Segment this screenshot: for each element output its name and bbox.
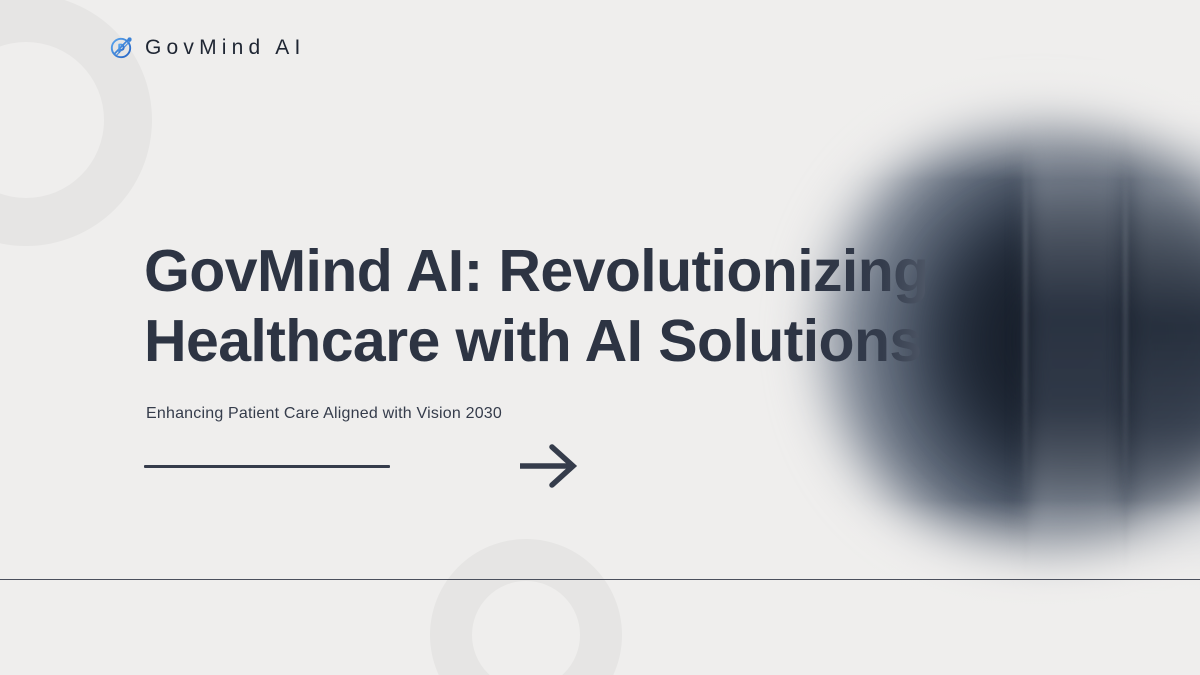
decorative-ring-bottom-center xyxy=(430,539,622,675)
cta-row xyxy=(144,444,587,488)
footer-hairline xyxy=(0,579,1200,580)
orb-band-right xyxy=(1130,115,1200,585)
divider-rule xyxy=(144,465,390,468)
orb-feather-bottom xyxy=(760,500,1200,620)
brand-logo[interactable]: GovMind AI xyxy=(108,33,306,61)
brand-logo-text: GovMind AI xyxy=(145,37,306,58)
orb-feather-top xyxy=(760,60,1200,180)
headline-block: GovMind AI: Revolutionizing Healthcare w… xyxy=(144,236,1044,425)
arrow-right-icon[interactable] xyxy=(507,444,587,488)
page-subtitle: Enhancing Patient Care Aligned with Visi… xyxy=(146,404,1044,425)
title-slide: GovMind AI GovMind AI: Revolutionizing H… xyxy=(0,0,1200,675)
page-title: GovMind AI: Revolutionizing Healthcare w… xyxy=(144,236,1044,376)
orb-seam-right xyxy=(1124,120,1127,575)
orbit-circle-icon xyxy=(108,33,136,61)
